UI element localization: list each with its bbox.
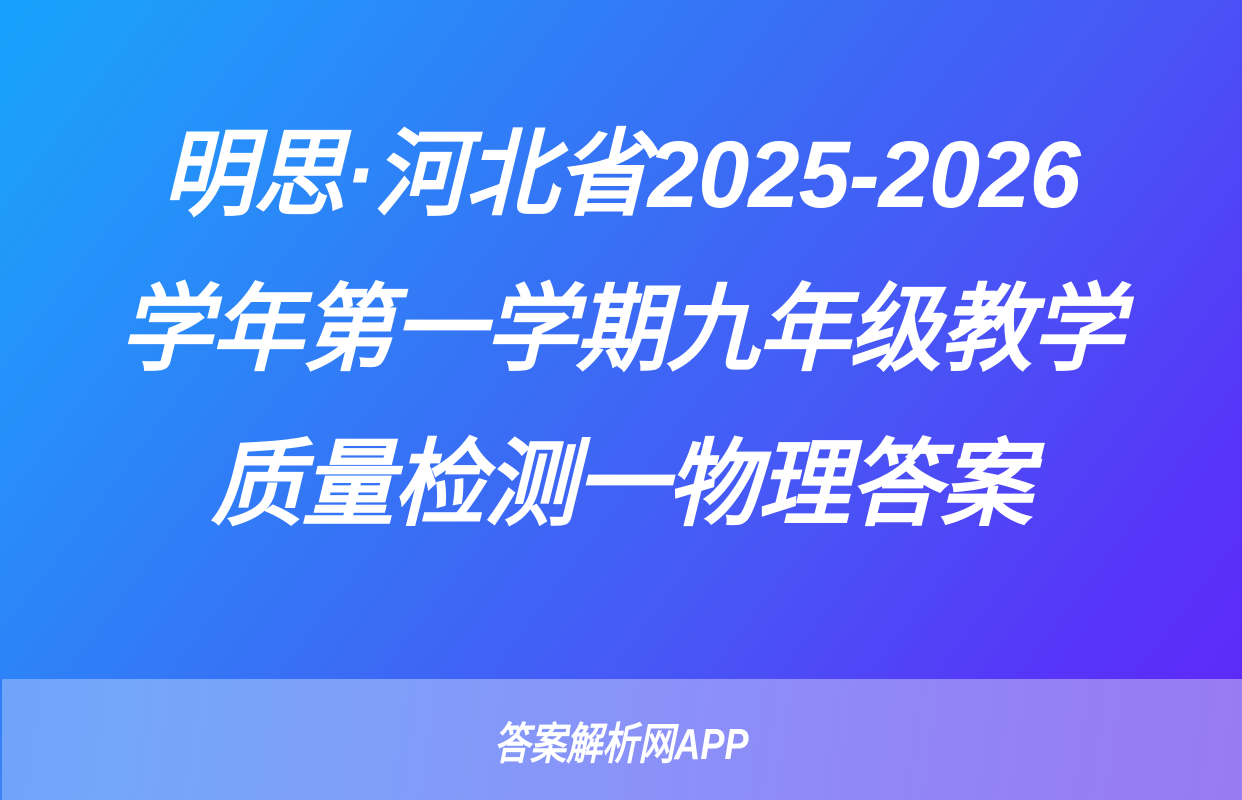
title-line-3: 质量检测一物理答案 — [211, 408, 1032, 563]
title-line-2: 学年第一学期九年级教学 — [119, 253, 1122, 408]
title-block: 明思·河北省2025-2026 学年第一学期九年级教学 质量检测一物理答案 — [0, 0, 1242, 679]
watermark-text: 答案解析网APP — [494, 708, 749, 772]
title-card: 明思·河北省2025-2026 学年第一学期九年级教学 质量检测一物理答案 答案… — [0, 0, 1242, 800]
title-line-1: 明思·河北省2025-2026 — [162, 98, 1080, 253]
watermark-bar: 答案解析网APP — [0, 679, 1242, 800]
